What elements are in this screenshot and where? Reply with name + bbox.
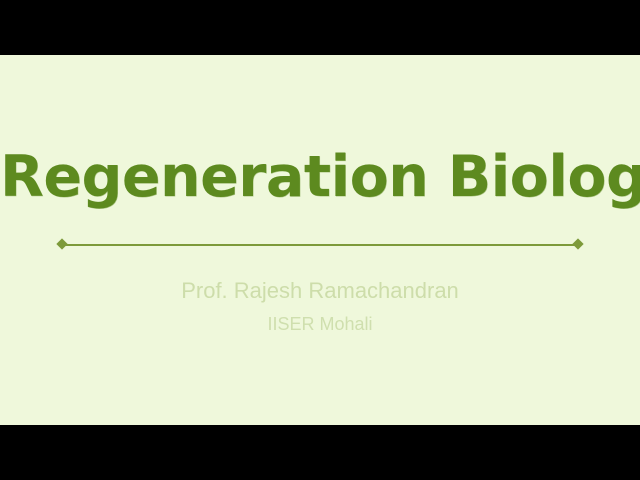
divider-line xyxy=(62,244,578,246)
presenter-name: Prof. Rajesh Ramachandran xyxy=(0,277,640,305)
title-slide: Regeneration Biology Prof. Rajesh Ramach… xyxy=(0,55,640,425)
video-frame: Regeneration Biology Prof. Rajesh Ramach… xyxy=(0,0,640,480)
letterbox-bar-top xyxy=(0,0,640,55)
divider-diamond-right-icon xyxy=(572,238,583,249)
presenter-affiliation: IISER Mohali xyxy=(0,312,640,336)
letterbox-bar-bottom xyxy=(0,425,640,480)
title-divider xyxy=(58,240,582,249)
page-title: Regeneration Biology xyxy=(0,147,640,207)
